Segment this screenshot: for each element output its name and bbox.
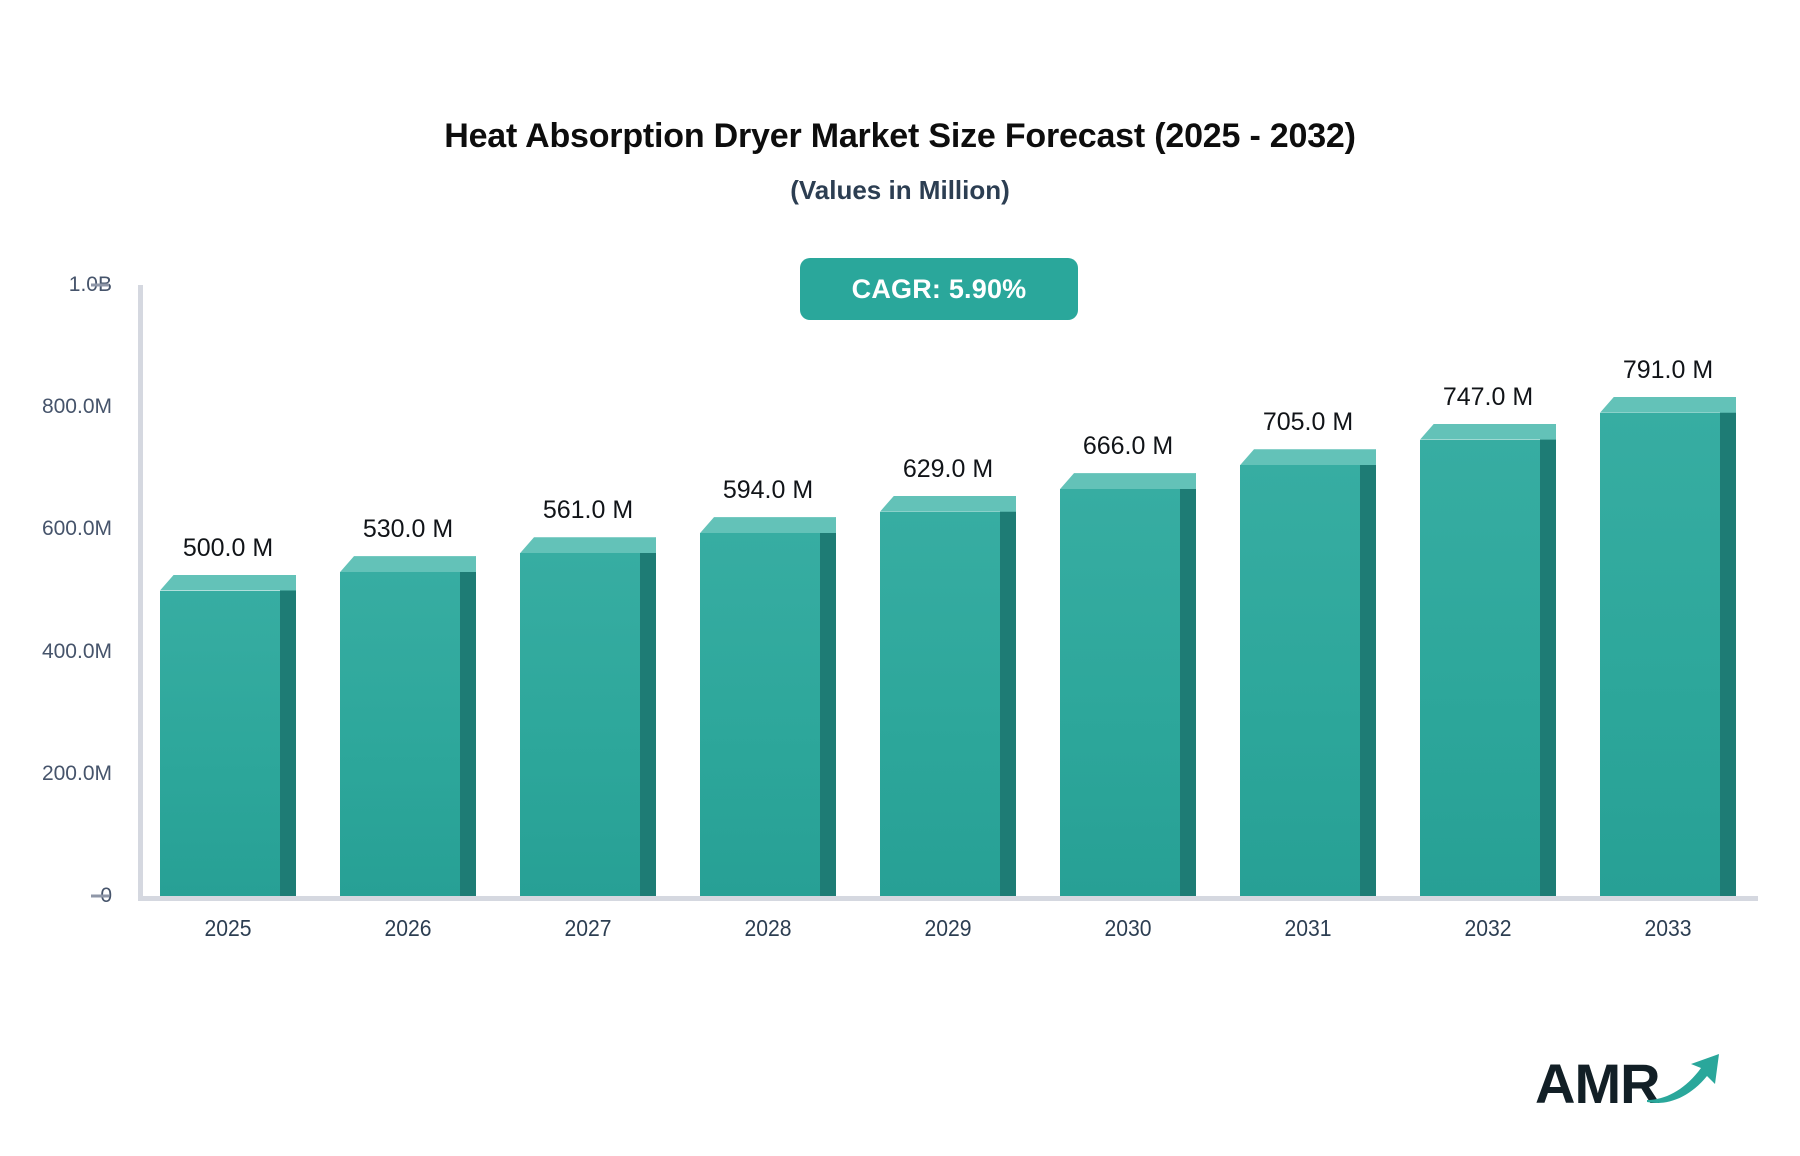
bar-top-face <box>160 575 296 591</box>
bar-front-face <box>520 553 640 896</box>
bar-side-face <box>280 575 296 897</box>
bar-top-face <box>1600 397 1736 413</box>
x-tick-label: 2028 <box>713 915 823 942</box>
bar-top-face <box>1240 449 1376 465</box>
bar-value-label: 500.0 M <box>160 534 296 563</box>
bar-side-face <box>1360 449 1376 896</box>
bar-front-face <box>1420 440 1540 896</box>
bar-top-face <box>1060 473 1196 489</box>
y-tick-label: 400.0M <box>0 640 112 664</box>
bar-side-face <box>1720 397 1736 896</box>
y-tick-label: 600.0M <box>0 517 112 541</box>
x-tick-label: 2030 <box>1073 915 1183 942</box>
bar-column[interactable]: 791.0 M <box>1600 397 1736 896</box>
bar-side-face <box>640 537 656 896</box>
bar-column[interactable]: 530.0 M <box>340 556 476 896</box>
bar-side-face <box>1180 473 1196 896</box>
bar-side-face <box>820 517 836 896</box>
page-title: Heat Absorption Dryer Market Size Foreca… <box>0 117 1800 156</box>
bar-column[interactable]: 561.0 M <box>520 537 656 896</box>
bar-front-face <box>1240 465 1360 896</box>
bar-value-label: 530.0 M <box>340 515 476 544</box>
bar-series: 500.0 M530.0 M561.0 M594.0 M629.0 M666.0… <box>138 285 1758 896</box>
amr-logo: AMR <box>1535 1044 1725 1124</box>
bar-top-face <box>520 537 656 553</box>
bar-value-label: 791.0 M <box>1600 356 1736 385</box>
x-tick-label: 2033 <box>1613 915 1723 942</box>
bar-column[interactable]: 594.0 M <box>700 517 836 896</box>
plot-area: 500.0 M530.0 M561.0 M594.0 M629.0 M666.0… <box>138 285 1758 901</box>
bar-front-face <box>1600 413 1720 896</box>
bar-value-label: 747.0 M <box>1420 383 1556 412</box>
bar-value-label: 705.0 M <box>1240 408 1376 437</box>
bar-side-face <box>1000 496 1016 896</box>
bar-column[interactable]: 629.0 M <box>880 496 1016 896</box>
bar-value-label: 561.0 M <box>520 496 656 525</box>
bar-front-face <box>160 591 280 897</box>
bar-front-face <box>340 572 460 896</box>
bar-top-face <box>1420 424 1556 440</box>
bar-column[interactable]: 705.0 M <box>1240 449 1376 896</box>
bar-column[interactable]: 747.0 M <box>1420 424 1556 896</box>
bar-top-face <box>340 556 476 572</box>
y-tick-dash <box>91 895 109 898</box>
x-tick-label: 2032 <box>1433 915 1543 942</box>
chart-page: Heat Absorption Dryer Market Size Foreca… <box>0 0 1800 1156</box>
chart-subtitle: (Values in Million) <box>0 175 1800 206</box>
bar-front-face <box>1060 489 1180 896</box>
x-axis-labels: 202520262027202820292030203120322033 <box>138 915 1758 955</box>
bar-top-face <box>700 517 836 533</box>
bar-value-label: 594.0 M <box>700 476 836 505</box>
bar-value-label: 666.0 M <box>1060 432 1196 461</box>
bar-side-face <box>460 556 476 896</box>
bar-side-face <box>1540 424 1556 896</box>
x-tick-label: 2029 <box>893 915 1003 942</box>
bar-top-face <box>880 496 1016 512</box>
logo-wordmark: AMR <box>1535 1051 1660 1116</box>
y-tick-dash <box>91 284 109 287</box>
x-tick-label: 2027 <box>533 915 643 942</box>
bar-front-face <box>700 533 820 896</box>
y-tick-label: 200.0M <box>0 762 112 786</box>
x-axis-line <box>138 896 1758 901</box>
x-tick-label: 2026 <box>353 915 463 942</box>
y-tick-label: 800.0M <box>0 395 112 419</box>
bar-column[interactable]: 666.0 M <box>1060 473 1196 896</box>
bar-value-label: 629.0 M <box>880 455 1016 484</box>
upward-trend-arrow-icon <box>1645 1050 1725 1106</box>
bar-column[interactable]: 500.0 M <box>160 575 296 897</box>
bar-front-face <box>880 512 1000 896</box>
x-tick-label: 2025 <box>173 915 283 942</box>
x-tick-label: 2031 <box>1253 915 1363 942</box>
